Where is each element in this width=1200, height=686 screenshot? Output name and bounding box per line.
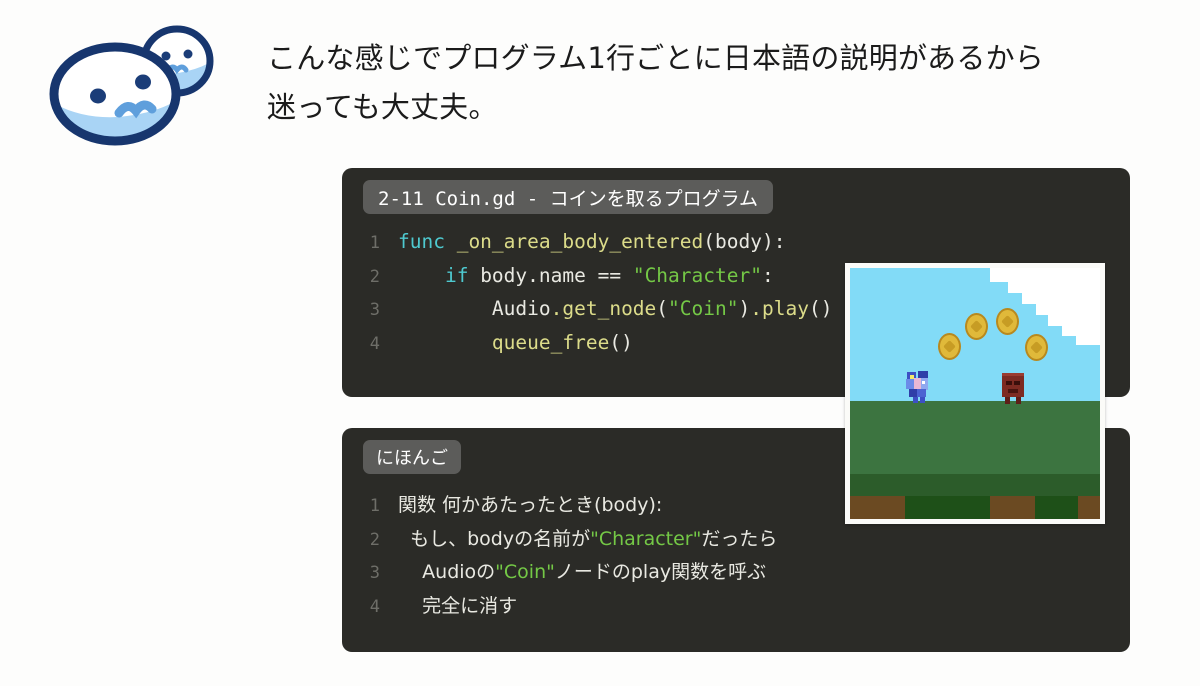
cloud-shape [1076, 336, 1100, 345]
token-plain: body.name == [468, 264, 632, 287]
token-plain: ノードのplay関数を呼ぶ [555, 561, 766, 583]
line-content: 完全に消す [398, 591, 517, 618]
token-str: "Character" [633, 264, 762, 287]
enemy-sprite [1001, 373, 1025, 404]
line-content: Audio.get_node("Coin").play() [398, 297, 832, 320]
token-kw: if [445, 264, 468, 287]
cloud-shape [1036, 304, 1100, 315]
token-str: "Coin" [668, 297, 738, 320]
line-number: 1 [342, 233, 398, 253]
page-title: こんな感じでプログラム1行ごとに日本語の説明があるから 迷っても大丈夫。 [267, 34, 1147, 132]
cloud-shape [1062, 326, 1100, 336]
token-plain: もし、bodyの名前が [398, 528, 590, 550]
token-plain: (body): [703, 230, 785, 253]
line-number: 3 [342, 563, 398, 583]
ground-tile [1078, 496, 1101, 519]
coin-sprite [965, 313, 988, 340]
line-number: 4 [342, 597, 398, 617]
page-header: こんな感じでプログラム1行ごとに日本語の説明があるから 迷っても大丈夫。 [0, 0, 1200, 160]
code-line: 2 もし、bodyの名前が"Character"だったら [342, 524, 1130, 558]
ground-tile [905, 496, 990, 519]
ground-tile-strip [850, 496, 1100, 519]
token-plain: Audio [398, 297, 551, 320]
coin-sprite [938, 333, 961, 360]
line-content: if body.name == "Character": [398, 264, 774, 287]
token-plain: 関数 何かあたったとき(body): [398, 494, 662, 516]
line-content: 関数 何かあたったとき(body): [398, 490, 662, 517]
line-content: func _on_area_body_entered(body): [398, 230, 785, 253]
cloud-shape [1048, 315, 1100, 326]
token-fn: _on_area_body_entered [457, 230, 704, 253]
line-content: Audioの"Coin"ノードのplay関数を呼ぶ [398, 557, 766, 584]
token-plain [398, 331, 492, 354]
game-canvas [850, 268, 1100, 519]
japanese-panel-tab[interactable]: にほんご [363, 440, 461, 474]
token-plain: () [609, 331, 632, 354]
token-fn: .play [750, 297, 809, 320]
code-line: 3 Audioの"Coin"ノードのplay関数を呼ぶ [342, 557, 1130, 591]
character-sprite [905, 370, 932, 403]
line-content: もし、bodyの名前が"Character"だったら [398, 524, 777, 551]
code-line: 1func _on_area_body_entered(body): [342, 230, 1130, 264]
cloud-shape [1008, 282, 1100, 293]
coin-sprite [1025, 334, 1048, 361]
line-number: 4 [342, 334, 398, 354]
cloud-shape [990, 268, 1100, 282]
ground-tile [850, 496, 905, 519]
line-number: 2 [342, 530, 398, 550]
token-plain: ( [656, 297, 668, 320]
token-plain [398, 264, 445, 287]
line-number: 2 [342, 267, 398, 287]
token-plain: ) [739, 297, 751, 320]
coin-sprite [996, 308, 1019, 335]
cloud-shape [1022, 293, 1100, 304]
grass-lower [850, 474, 1100, 497]
token-fn: queue_free [492, 331, 609, 354]
code-panel-tab[interactable]: 2-11 Coin.gd - コインを取るプログラム [363, 180, 773, 214]
ground-tile [1035, 496, 1078, 519]
line-number: 1 [342, 496, 398, 516]
headline-line-1: こんな感じでプログラム1行ごとに日本語の説明があるから [267, 34, 1147, 83]
headline-line-2: 迷っても大丈夫。 [267, 83, 1147, 132]
token-plain: だったら [701, 528, 777, 550]
line-content: queue_free() [398, 331, 633, 354]
grass-upper [850, 401, 1100, 474]
line-number: 3 [342, 300, 398, 320]
token-fn: .get_node [551, 297, 657, 320]
token-plain: () [809, 297, 832, 320]
game-preview-screenshot [845, 263, 1105, 524]
code-line: 4 完全に消す [342, 591, 1130, 625]
token-str: "Character" [590, 528, 701, 550]
token-kw: func [398, 230, 457, 253]
token-plain: Audioの [398, 561, 495, 583]
token-str: "Coin" [495, 561, 555, 583]
token-plain: 完全に消す [398, 595, 517, 617]
ground-tile [990, 496, 1035, 519]
two-blob-mascot-icon [38, 18, 228, 148]
token-plain: : [762, 264, 774, 287]
